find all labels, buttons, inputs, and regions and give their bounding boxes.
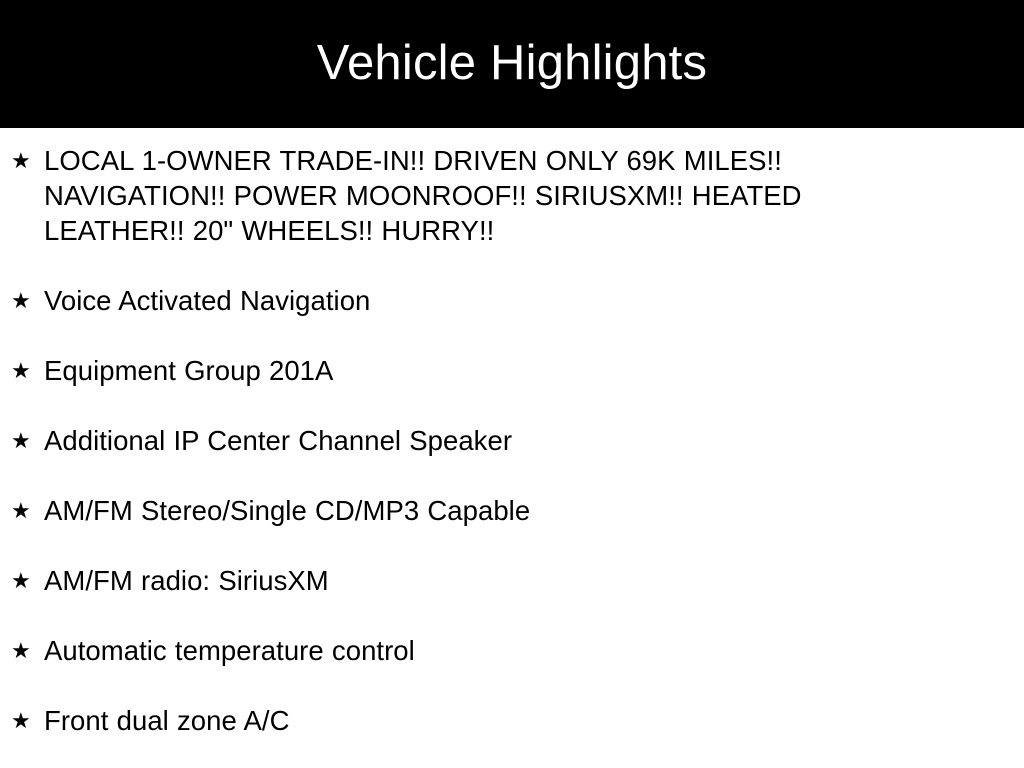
header-banner: Vehicle Highlights [0,0,1024,128]
list-item-label: Voice Activated Navigation [44,283,874,318]
list-item: ★ Voice Activated Navigation [0,283,1024,318]
star-icon: ★ [11,423,31,458]
star-icon: ★ [11,703,31,738]
list-item: ★ Front dual zone A/C [0,703,1024,738]
list-item-label: LOCAL 1-OWNER TRADE-IN!! DRIVEN ONLY 69K… [44,143,874,248]
list-item: ★ Additional IP Center Channel Speaker [0,423,1024,458]
star-icon: ★ [11,633,31,668]
star-icon: ★ [11,143,31,178]
star-icon: ★ [11,353,31,388]
star-icon: ★ [11,283,31,318]
highlights-list: ★ LOCAL 1-OWNER TRADE-IN!! DRIVEN ONLY 6… [0,128,1024,738]
list-item: ★ AM/FM Stereo/Single CD/MP3 Capable [0,493,1024,528]
list-item: ★ AM/FM radio: SiriusXM [0,563,1024,598]
list-item: ★ Equipment Group 201A [0,353,1024,388]
star-icon: ★ [11,493,31,528]
list-item-label: Equipment Group 201A [44,353,874,388]
list-item-label: Automatic temperature control [44,633,874,668]
list-item-label: Front dual zone A/C [44,703,874,738]
vehicle-highlights-page: Vehicle Highlights ★ LOCAL 1-OWNER TRADE… [0,0,1024,768]
list-item: ★ LOCAL 1-OWNER TRADE-IN!! DRIVEN ONLY 6… [0,143,1024,248]
list-item-label: Additional IP Center Channel Speaker [44,423,874,458]
star-icon: ★ [11,563,31,598]
list-item-label: AM/FM radio: SiriusXM [44,563,874,598]
list-item-label: AM/FM Stereo/Single CD/MP3 Capable [44,493,874,528]
list-item: ★ Automatic temperature control [0,633,1024,668]
page-title: Vehicle Highlights [317,39,707,88]
